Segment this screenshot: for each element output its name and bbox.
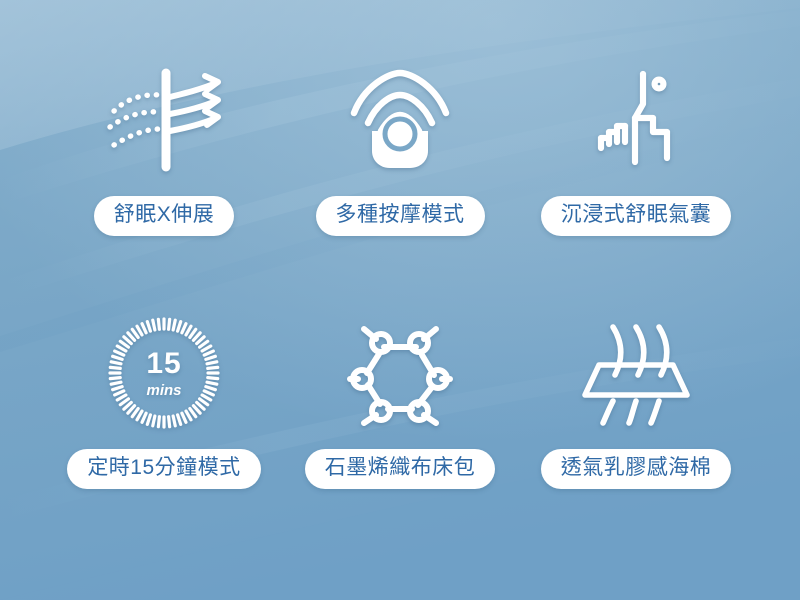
feature-label: 透氣乳膠感海棉 (561, 456, 712, 480)
feature-pill[interactable]: 定時15分鐘模式 (67, 449, 260, 489)
graphene-hexagon-icon (348, 321, 452, 425)
feature-row-2: 15 mins 定時15分鐘模式 (0, 313, 800, 489)
icon-container (556, 60, 716, 180)
icon-container (84, 60, 244, 180)
feature-label: 沉浸式舒眠氣囊 (561, 203, 712, 227)
feature-row-1: 舒眠X伸展 (0, 60, 800, 236)
icon-container: 15 mins (84, 313, 244, 433)
icon-container (320, 60, 480, 180)
feature-item-breathable-latex-foam[interactable]: 透氣乳膠感海棉 (527, 313, 745, 489)
hand-fingers-icon (591, 70, 681, 170)
feature-content: 舒眠X伸展 (0, 0, 800, 600)
timer-15-mins-icon: 15 mins (108, 317, 220, 429)
feature-label: 石墨烯織布床包 (325, 456, 476, 480)
feature-grid-banner: 舒眠X伸展 (0, 0, 800, 600)
airflow-stretch-icon (100, 67, 228, 173)
feature-label: 定時15分鐘模式 (87, 456, 240, 480)
feature-item-graphene-fabric-cover[interactable]: 石墨烯織布床包 (291, 313, 509, 489)
feature-pill[interactable]: 石墨烯織布床包 (305, 449, 496, 489)
breathable-foam-icon (577, 321, 695, 425)
feature-pill[interactable]: 透氣乳膠感海棉 (541, 449, 732, 489)
feature-item-sleep-x-stretch[interactable]: 舒眠X伸展 (55, 60, 273, 236)
feature-pill[interactable]: 多種按摩模式 (316, 196, 485, 236)
timer-unit: mins (146, 382, 181, 399)
icon-container (320, 313, 480, 433)
feature-pill[interactable]: 沉浸式舒眠氣囊 (541, 196, 732, 236)
feature-label: 舒眠X伸展 (114, 203, 215, 227)
feature-label: 多種按摩模式 (336, 203, 465, 227)
feature-item-timer-15-min[interactable]: 15 mins 定時15分鐘模式 (55, 313, 273, 489)
timer-value: 15 (146, 347, 181, 380)
feature-item-massage-modes[interactable]: 多種按摩模式 (291, 60, 509, 236)
feature-item-immersive-airbag[interactable]: 沉浸式舒眠氣囊 (527, 60, 745, 236)
feature-pill[interactable]: 舒眠X伸展 (94, 196, 235, 236)
icon-container (556, 313, 716, 433)
massage-signal-icon (348, 69, 452, 171)
